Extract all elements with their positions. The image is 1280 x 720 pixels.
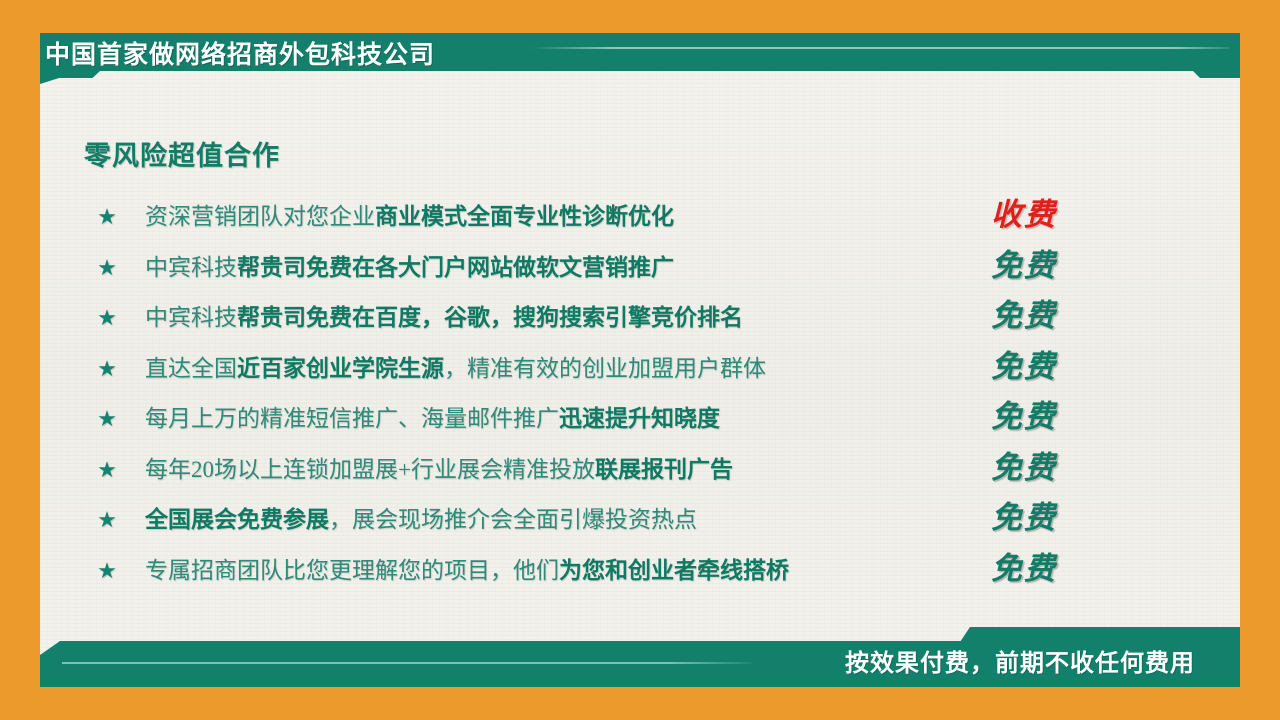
list-item-text-lead: 中宾科技 <box>145 305 237 330</box>
list-item-text-emphasis: 迅速提升知晓度 <box>559 406 720 431</box>
star-bullet-icon: ★ <box>94 558 120 584</box>
list-item-text-emphasis: 帮贵司免费在各大门户网站做软文营销推广 <box>237 255 674 280</box>
list-item-text-tail: ，精准有效的创业加盟用户群体 <box>444 356 766 381</box>
list-item-text: 直达全国近百家创业学院生源，精准有效的创业加盟用户群体 <box>145 352 766 386</box>
price-badge: 免费 <box>964 394 1084 440</box>
list-item-text-emphasis: 为您和创业者牵线搭桥 <box>559 558 789 583</box>
price-badge: 收费 <box>964 192 1084 238</box>
price-badge: 免费 <box>964 445 1084 491</box>
list-item-text-lead: 中宾科技 <box>145 255 237 280</box>
list-item-text: 每月上万的精准短信推广、海量邮件推广迅速提升知晓度 <box>145 402 720 436</box>
slide-root: 中国首家做网络招商外包科技公司 零风险超值合作 ★资深营销团队对您企业商业模式全… <box>0 0 1280 720</box>
price-badge: 免费 <box>964 344 1084 390</box>
price-badge: 免费 <box>964 546 1084 592</box>
list-item-text-emphasis: 联展报刊广告 <box>595 457 733 482</box>
list-item-text-lead: 每月上万的精准短信推广、海量邮件推广 <box>145 406 559 431</box>
list-item-text-emphasis: 全国展会免费参展 <box>145 507 329 532</box>
header-title: 中国首家做网络招商外包科技公司 <box>45 36 435 74</box>
price-badge: 免费 <box>964 293 1084 339</box>
list-item-text-emphasis: 帮贵司免费在百度，谷歌，搜狗搜索引擎竞价排名 <box>237 305 743 330</box>
list-item-text: 资深营销团队对您企业商业模式全面专业性诊断优化 <box>145 200 674 234</box>
list-item-text-emphasis: 商业模式全面专业性诊断优化 <box>375 204 674 229</box>
list-item[interactable]: ★专属招商团队比您更理解您的项目，他们为您和创业者牵线搭桥免费 <box>84 550 1194 601</box>
star-bullet-icon: ★ <box>94 457 120 483</box>
list-item-text: 中宾科技帮贵司免费在各大门户网站做软文营销推广 <box>145 251 674 285</box>
list-item-text: 中宾科技帮贵司免费在百度，谷歌，搜狗搜索引擎竞价排名 <box>145 301 743 335</box>
list-item[interactable]: ★资深营销团队对您企业商业模式全面专业性诊断优化收费 <box>84 196 1194 247</box>
price-badge: 免费 <box>964 495 1084 541</box>
list-item-text-tail: ，展会现场推介会全面引爆投资热点 <box>329 507 697 532</box>
list-item[interactable]: ★每月上万的精准短信推广、海量邮件推广迅速提升知晓度免费 <box>84 398 1194 449</box>
star-bullet-icon: ★ <box>94 305 120 331</box>
list-item-text-lead: 每年20场以上连锁加盟展+行业展会精准投放 <box>145 457 595 482</box>
list-item-text-lead: 资深营销团队对您企业 <box>145 204 375 229</box>
list-item-text: 专属招商团队比您更理解您的项目，他们为您和创业者牵线搭桥 <box>145 554 789 588</box>
footer-tagline: 按效果付费，前期不收任何费用 <box>845 645 1195 683</box>
list-item-text-emphasis: 近百家创业学院生源 <box>237 356 444 381</box>
star-bullet-icon: ★ <box>94 204 120 230</box>
list-item-text: 全国展会免费参展，展会现场推介会全面引爆投资热点 <box>145 503 697 537</box>
header-divider-line <box>530 47 1230 49</box>
list-item[interactable]: ★中宾科技帮贵司免费在百度，谷歌，搜狗搜索引擎竞价排名免费 <box>84 297 1194 348</box>
list-item[interactable]: ★直达全国近百家创业学院生源，精准有效的创业加盟用户群体免费 <box>84 348 1194 399</box>
list-item[interactable]: ★中宾科技帮贵司免费在各大门户网站做软文营销推广免费 <box>84 247 1194 298</box>
star-bullet-icon: ★ <box>94 255 120 281</box>
star-bullet-icon: ★ <box>94 406 120 432</box>
list-item-text: 每年20场以上连锁加盟展+行业展会精准投放联展报刊广告 <box>145 453 733 487</box>
page-title: 零风险超值合作 <box>84 134 280 173</box>
star-bullet-icon: ★ <box>94 507 120 533</box>
list-item-text-lead: 直达全国 <box>145 356 237 381</box>
benefit-list: ★资深营销团队对您企业商业模式全面专业性诊断优化收费★中宾科技帮贵司免费在各大门… <box>84 196 1194 600</box>
footer-divider-line <box>62 662 752 664</box>
list-item-text-lead: 专属招商团队比您更理解您的项目，他们 <box>145 558 559 583</box>
list-item[interactable]: ★全国展会免费参展，展会现场推介会全面引爆投资热点免费 <box>84 499 1194 550</box>
list-item[interactable]: ★每年20场以上连锁加盟展+行业展会精准投放联展报刊广告免费 <box>84 449 1194 500</box>
price-badge: 免费 <box>964 243 1084 289</box>
star-bullet-icon: ★ <box>94 356 120 382</box>
